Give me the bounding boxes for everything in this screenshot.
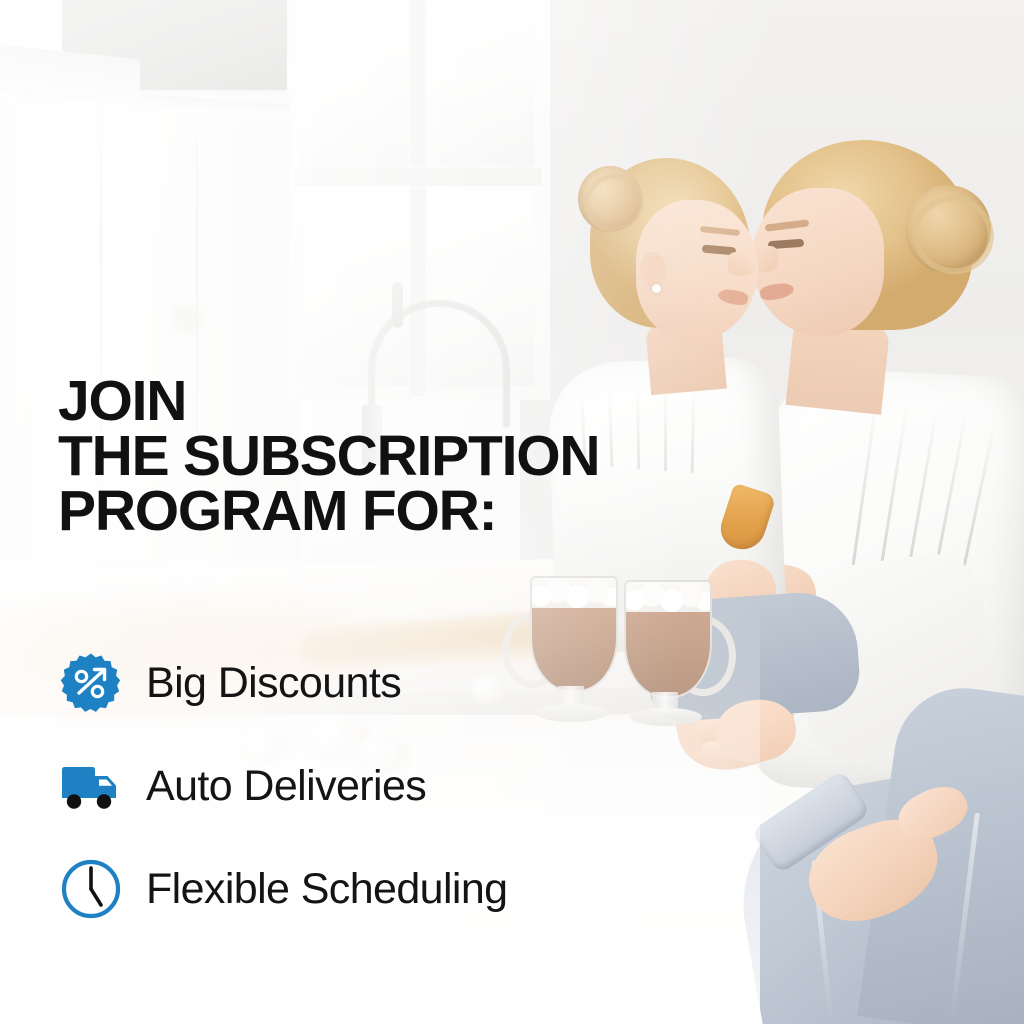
headline-line-1: JOIN bbox=[58, 374, 599, 429]
feature-list: Big Discounts Auto Deliveries bbox=[58, 645, 508, 927]
headline-line-3: PROGRAM FOR: bbox=[58, 484, 599, 539]
feature-label-discounts: Big Discounts bbox=[146, 662, 401, 705]
page-title: JOIN THE SUBSCRIPTION PROGRAM FOR: bbox=[58, 374, 599, 539]
discount-badge-percent-icon bbox=[58, 650, 124, 716]
promo-canvas: JOIN THE SUBSCRIPTION PROGRAM FOR: bbox=[0, 0, 1024, 1024]
headline-line-2: THE SUBSCRIPTION bbox=[58, 429, 599, 484]
feature-label-deliveries: Auto Deliveries bbox=[146, 765, 426, 808]
feature-item-deliveries: Auto Deliveries bbox=[58, 748, 508, 824]
delivery-truck-icon bbox=[58, 753, 124, 819]
clock-icon bbox=[58, 856, 124, 922]
feature-item-discounts: Big Discounts bbox=[58, 645, 508, 721]
feature-label-scheduling: Flexible Scheduling bbox=[146, 868, 508, 911]
feature-item-scheduling: Flexible Scheduling bbox=[58, 851, 508, 927]
promo-content: JOIN THE SUBSCRIPTION PROGRAM FOR: bbox=[0, 0, 1024, 1024]
